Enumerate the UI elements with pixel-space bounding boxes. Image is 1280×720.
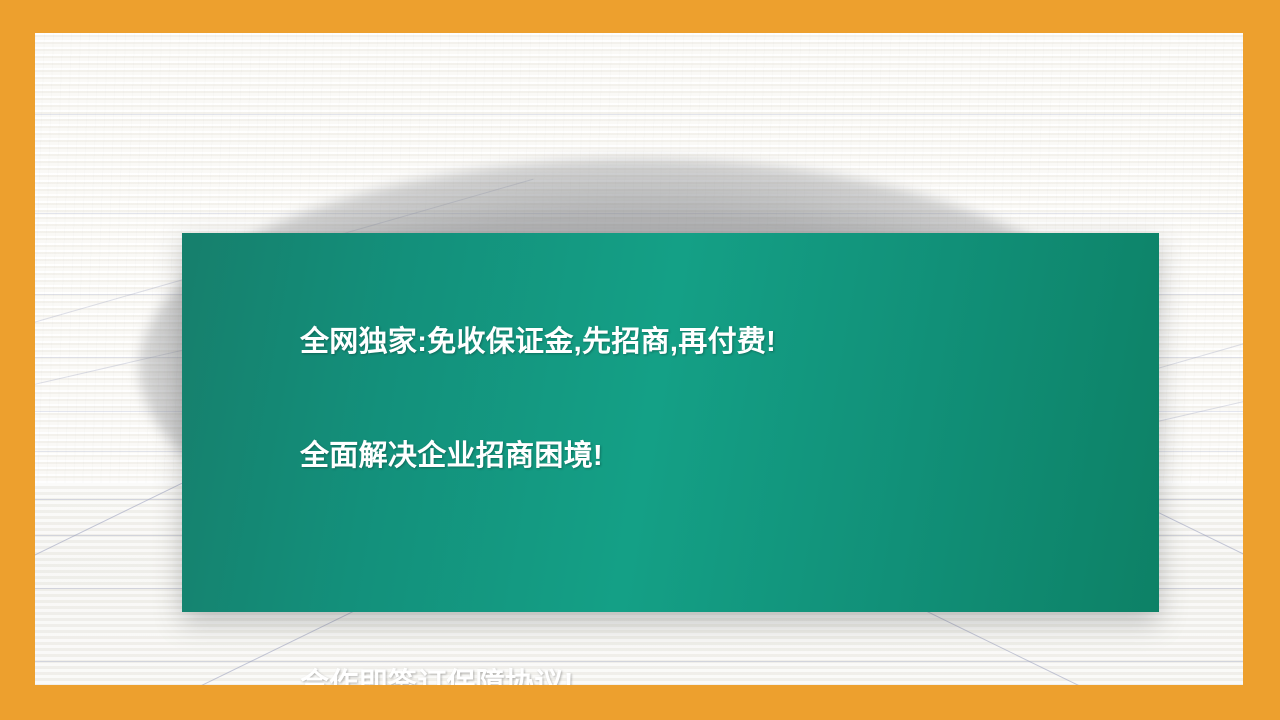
wall-grid-line bbox=[35, 114, 1243, 115]
panel-line-4: 合作即签订保障协议! bbox=[300, 665, 1049, 685]
green-message-panel: 全网独家:免收保证金,先招商,再付费! 全面解决企业招商困境! 合作即签订保障协… bbox=[182, 233, 1159, 612]
slide-frame: 全网独家:免收保证金,先招商,再付费! 全面解决企业招商困境! 合作即签订保障协… bbox=[0, 0, 1280, 720]
room-stage: 全网独家:免收保证金,先招商,再付费! 全面解决企业招商困境! 合作即签订保障协… bbox=[35, 33, 1243, 685]
panel-line-3-spacer bbox=[300, 551, 1049, 589]
panel-text-block: 全网独家:免收保证金,先招商,再付费! 全面解决企业招商困境! 合作即签订保障协… bbox=[300, 247, 1049, 685]
panel-line-1: 全网独家:免收保证金,先招商,再付费! bbox=[300, 323, 1049, 361]
panel-line-2: 全面解决企业招商困境! bbox=[300, 437, 1049, 475]
